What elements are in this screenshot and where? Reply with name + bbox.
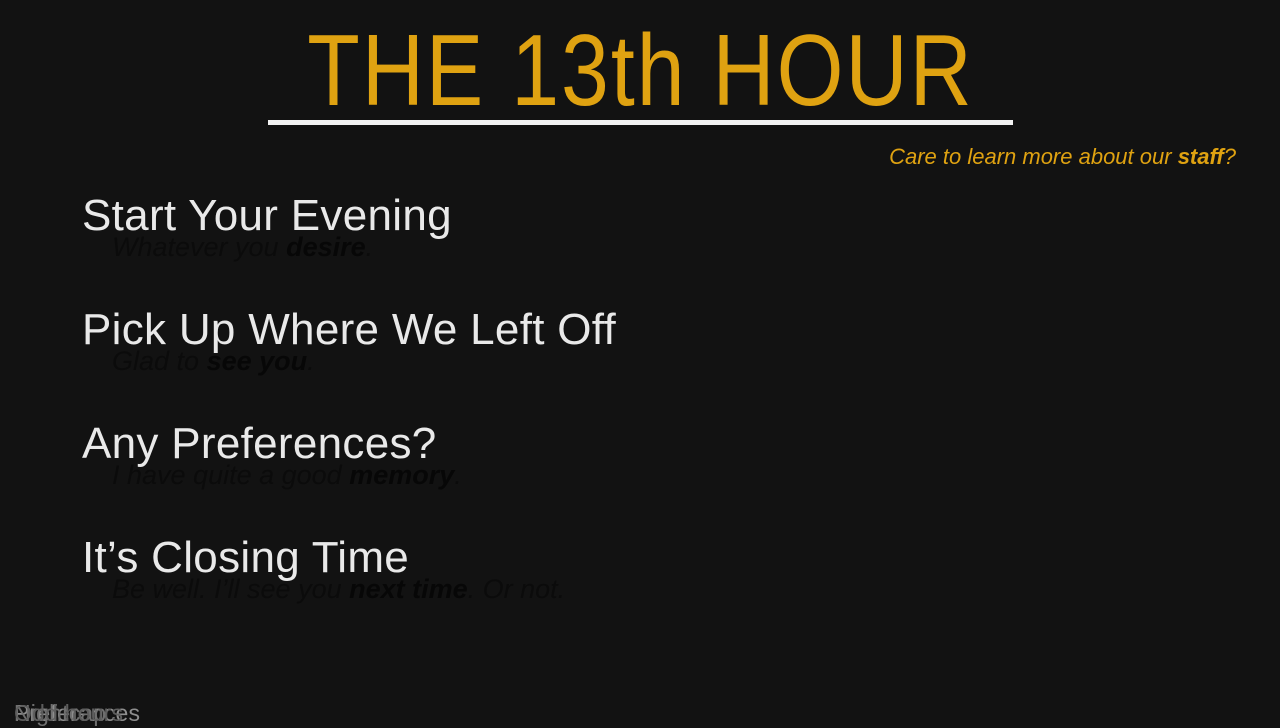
menu-item-pick-up-where-we-left-off[interactable]: Pick Up Where We Left Off Glad to see yo… (82, 304, 1182, 418)
bottom-label-odd-hours[interactable]: Odd hours (14, 700, 123, 726)
main-menu-screen: { "screen": { "background_color": "#1212… (0, 0, 1280, 720)
title-underline-rule (268, 120, 1013, 125)
menu-item-subtitle-suffix: . (454, 460, 462, 490)
menu-item-any-preferences[interactable]: Any Preferences? I have quite a good mem… (82, 418, 1182, 532)
menu-item-subtitle: Whatever you desire. (112, 231, 1212, 263)
menu-list: Start Your Evening Whatever you desire. … (82, 190, 1182, 646)
bottom-label-stack: Preferences Nightcap Odd hours (14, 700, 434, 728)
tagline-prefix: Care to learn more about our (889, 144, 1178, 169)
menu-item-subtitle-emphasis: see you (207, 346, 308, 376)
menu-item-subtitle-emphasis: desire (286, 232, 366, 262)
menu-item-subtitle: Be well. I’ll see you next time. Or not. (112, 573, 1212, 605)
tagline-suffix: ? (1224, 144, 1236, 169)
menu-item-subtitle-suffix: . Or not. (468, 574, 566, 604)
menu-item-subtitle-prefix: I have quite a good (112, 460, 349, 490)
menu-item-start-your-evening[interactable]: Start Your Evening Whatever you desire. (82, 190, 1182, 304)
title-block: THE 13th HOUR (268, 14, 1013, 110)
menu-item-subtitle-prefix: Whatever you (112, 232, 286, 262)
menu-item-subtitle-suffix: . (307, 346, 315, 376)
menu-item-subtitle: Glad to see you. (112, 345, 1212, 377)
menu-item-subtitle-prefix: Be well. I’ll see you (112, 574, 349, 604)
menu-item-its-closing-time[interactable]: It’s Closing Time Be well. I’ll see you … (82, 532, 1182, 646)
menu-item-subtitle-suffix: . (366, 232, 374, 262)
menu-item-subtitle-emphasis: next time (349, 574, 468, 604)
page-title: THE 13th HOUR (268, 14, 1013, 127)
staff-tagline[interactable]: Care to learn more about our staff? (889, 143, 1236, 171)
menu-item-subtitle-prefix: Glad to (112, 346, 207, 376)
menu-item-subtitle-emphasis: memory (349, 460, 454, 490)
menu-item-subtitle: I have quite a good memory. (112, 459, 1212, 491)
tagline-emphasis: staff (1178, 144, 1224, 169)
